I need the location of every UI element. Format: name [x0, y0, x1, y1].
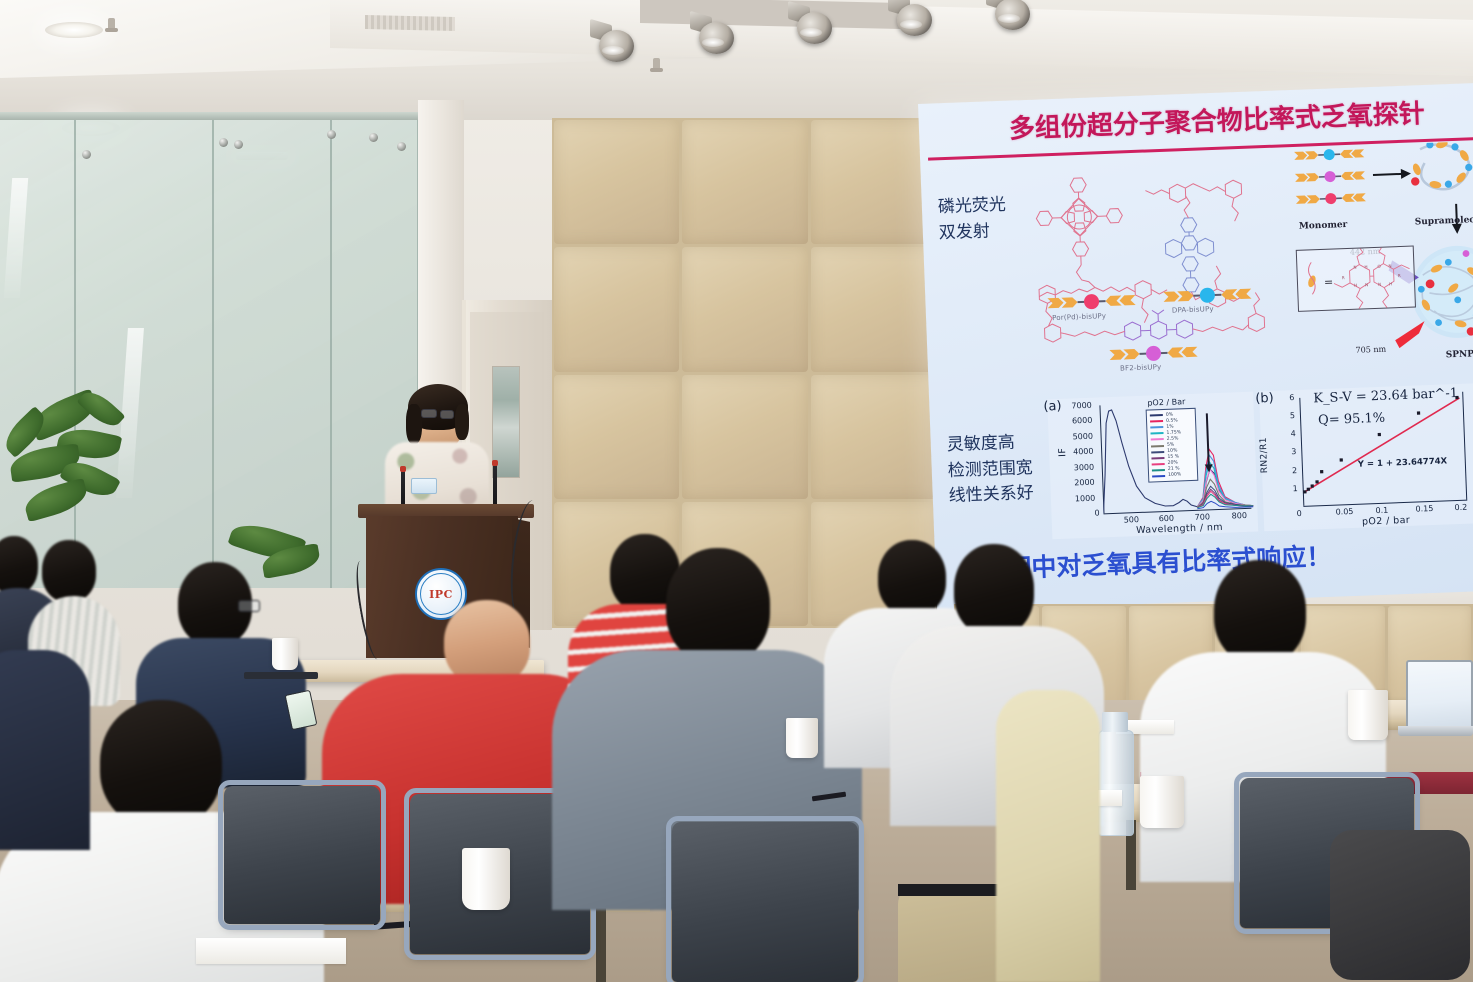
sprinkler-head	[653, 58, 660, 70]
recessed-light	[45, 22, 103, 38]
trousers-dark	[1330, 830, 1470, 980]
molecule-label-bf2: BF2-bisUPy	[1120, 363, 1162, 373]
chart-b-ytick: 3	[1291, 447, 1296, 456]
person-head	[878, 540, 946, 616]
supramolecular-label: Supramolecular	[1415, 214, 1473, 227]
slide-label-sensitivity: 灵敏度高 检测范围宽 线性关系好	[946, 430, 1034, 510]
track-spotlight	[986, 0, 1030, 30]
person-head	[666, 548, 770, 664]
legend-label: 5%	[1167, 443, 1174, 448]
paper-cup	[1348, 690, 1388, 740]
chart-b-q-annotation: Q= 95.1%	[1318, 411, 1386, 429]
person-head	[1214, 560, 1306, 664]
legend-swatch	[1151, 432, 1164, 434]
chart-b-ytick: 5	[1290, 411, 1295, 420]
paper-sheet	[196, 938, 346, 964]
legend-swatch	[1151, 438, 1164, 440]
laptop-base	[1398, 726, 1473, 736]
glass-bolt	[327, 130, 336, 139]
chart-a-legend: 0% 0.5% 1% 1.75% 2.5% 5% 10% 15 % 20% 21…	[1146, 408, 1199, 483]
legend-swatch	[1150, 420, 1163, 422]
laptop-dark	[244, 672, 318, 679]
legend-label: 0.5%	[1166, 418, 1178, 423]
chair-rim	[666, 816, 864, 982]
legend-label: 100%	[1168, 473, 1181, 478]
glass-pane	[74, 118, 76, 588]
chart-a-panel-tag: (a)	[1043, 399, 1062, 415]
svg-text:H: H	[1354, 283, 1357, 288]
chart-b-xtick: 0	[1296, 509, 1301, 518]
legend-label: 20%	[1168, 461, 1178, 466]
desk-leg	[596, 908, 606, 982]
svg-text:O: O	[1377, 264, 1381, 269]
chart-b-xtick: 0.2	[1454, 503, 1467, 512]
paper-cup	[1140, 776, 1184, 828]
chart-b-xtick: 0.15	[1415, 504, 1433, 514]
slide-label-line: 线性关系好	[948, 481, 1034, 510]
person-head	[100, 700, 222, 828]
svg-text:R: R	[1342, 275, 1345, 280]
chart-a-ylabel: IF	[1057, 448, 1068, 457]
svg-text:N: N	[1365, 282, 1368, 287]
person-head	[954, 544, 1034, 636]
legend-label: 1.75%	[1166, 430, 1181, 436]
speaker-glasses	[421, 409, 437, 418]
glass-partition	[0, 118, 420, 588]
chart-b-ytick: 6	[1289, 393, 1294, 402]
legend-swatch	[1151, 451, 1164, 453]
molecular-structures: Por(Pd)-bisUPy DPA-bisUPy	[1033, 162, 1290, 371]
slide-title: 多组份超分子聚合物比率式乏氧探针	[1008, 91, 1473, 145]
glass-top-frame	[0, 112, 420, 120]
glass-reflection	[4, 178, 28, 298]
chart-a-xtick: 600	[1159, 514, 1175, 524]
water-bottle	[1098, 730, 1134, 836]
chart-b-panel-tag: (b)	[1255, 391, 1274, 407]
acoustic-panel-wall	[552, 118, 938, 628]
chart-a-xtick: 700	[1195, 512, 1211, 522]
glass-bolt	[219, 138, 228, 147]
podium-logo-ring	[420, 573, 462, 615]
slide-label-line: 灵敏度高	[946, 430, 1032, 459]
legend-swatch	[1151, 445, 1164, 447]
projection-screen: 多组份超分子聚合物比率式乏氧探针 磷光荧光 双发射 灵敏度高 检测范围宽 线性关…	[918, 83, 1473, 612]
svg-text:N: N	[1388, 263, 1391, 268]
paper-cup	[272, 638, 298, 670]
legend-swatch	[1152, 463, 1165, 465]
chart-a-ytick: 2000	[1074, 478, 1095, 488]
ceiling-vent	[365, 15, 455, 31]
chair-rim	[218, 780, 386, 930]
glass-bolt	[397, 142, 406, 151]
molecule-label-dpa: DPA-bisUPy	[1172, 305, 1214, 315]
legend-swatch	[1150, 426, 1163, 428]
glass-bolt	[82, 150, 91, 159]
person-head	[0, 536, 38, 594]
microphone-left	[401, 466, 405, 508]
speaker-name-badge	[411, 478, 437, 494]
chart-b-ytick: 1	[1293, 484, 1298, 493]
chart-a-ytick: 1000	[1075, 494, 1096, 504]
chart-b-xlabel: pO2 / bar	[1362, 515, 1411, 528]
svg-text:H: H	[1389, 281, 1392, 286]
chart-b-ytick: 2	[1292, 466, 1297, 475]
legend-label: 21 %	[1168, 467, 1180, 472]
person-torso	[996, 690, 1100, 982]
slide-label-phosphorescence: 磷光荧光 双发射	[937, 193, 1007, 247]
speaker-glasses	[440, 410, 454, 419]
legend-swatch	[1152, 475, 1165, 477]
svg-text:N: N	[1378, 282, 1381, 287]
laptop-screen	[1406, 660, 1473, 728]
track-spotlight	[590, 22, 634, 62]
presentation-photograph: 多组份超分子聚合物比率式乏氧探针 磷光荧光 双发射 灵敏度高 检测范围宽 线性关…	[0, 0, 1473, 982]
chart-a-xtick: 500	[1124, 515, 1140, 525]
glass-pane	[212, 118, 214, 588]
chart-b-xtick: 0.1	[1375, 506, 1388, 515]
chart-a-ytick: 6000	[1072, 416, 1093, 426]
track-spotlight	[690, 14, 734, 54]
chart-b-ylabel: RN2/R1	[1259, 437, 1270, 473]
legend-label: 10%	[1167, 449, 1177, 454]
person-torso	[0, 650, 90, 850]
chart-a-ytick: 4000	[1073, 447, 1094, 457]
chart-b-xtick: 0.05	[1335, 507, 1353, 517]
monomer-label: Monomer	[1299, 220, 1348, 232]
upy-dimer-inset: = NH HN ON NH RR	[1296, 246, 1416, 312]
emission-wavelength-label: 705 nm	[1355, 345, 1386, 355]
glass-bolt	[369, 133, 378, 142]
chart-a-emission-spectra: (a) 7000 6000 5000 4000 3000 2000 1000 0…	[1047, 392, 1258, 540]
slide-label-line: 双发射	[938, 218, 1007, 246]
microphone-left-tip	[400, 466, 406, 472]
slide-label-line: 磷光荧光	[937, 193, 1006, 221]
paper-cup	[462, 848, 510, 910]
chart-a-xtick: 800	[1232, 511, 1248, 521]
paper-cup	[786, 718, 818, 758]
chart-b-ytick: 4	[1290, 429, 1295, 438]
legend-swatch	[1151, 457, 1164, 459]
svg-text:H: H	[1364, 264, 1367, 269]
glass-pane	[330, 118, 332, 588]
legend-label: 1%	[1166, 424, 1173, 429]
chart-a-ytick: 0	[1094, 508, 1099, 517]
spnp-label: SPNP	[1446, 349, 1473, 360]
svg-text:N: N	[1353, 265, 1356, 270]
legend-item: 100%	[1152, 472, 1194, 480]
speaker-hair-side	[406, 404, 422, 444]
chart-a-ytick: 3000	[1074, 463, 1095, 473]
microphone-right-tip	[492, 460, 498, 466]
chart-a-ytick: 7000	[1071, 401, 1092, 411]
chart-b-points-and-fit	[1299, 392, 1469, 508]
person-glasses	[238, 600, 260, 612]
svg-text:=: =	[1324, 276, 1334, 289]
microphone-right	[493, 460, 497, 508]
track-spotlight	[888, 0, 932, 36]
legend-swatch	[1152, 469, 1165, 471]
legend-label: 15 %	[1167, 455, 1179, 460]
person-head	[42, 540, 96, 602]
legend-label: 0%	[1166, 412, 1173, 417]
chart-a-legend-title: pO2 / Bar	[1147, 397, 1185, 407]
track-spotlight	[788, 4, 832, 44]
sprinkler-head	[108, 18, 115, 30]
speaker-hair-side	[455, 404, 469, 440]
slide-label-line: 检测范围宽	[947, 455, 1033, 484]
svg-text:R: R	[1398, 273, 1401, 278]
chart-a-ytick: 5000	[1072, 432, 1093, 442]
legend-swatch	[1150, 414, 1163, 416]
glass-bolt	[234, 140, 243, 149]
chart-a-xlabel: Wavelength / nm	[1136, 522, 1223, 536]
legend-label: 2.5%	[1167, 436, 1179, 441]
chart-b-stern-volmer: (b) 6 5 4 3 2 1 0 0.05 0.1 0.15 0.2 pO2 …	[1259, 383, 1473, 531]
bottle-cap	[1102, 712, 1128, 732]
chemical-structure-diagram	[1033, 162, 1290, 371]
